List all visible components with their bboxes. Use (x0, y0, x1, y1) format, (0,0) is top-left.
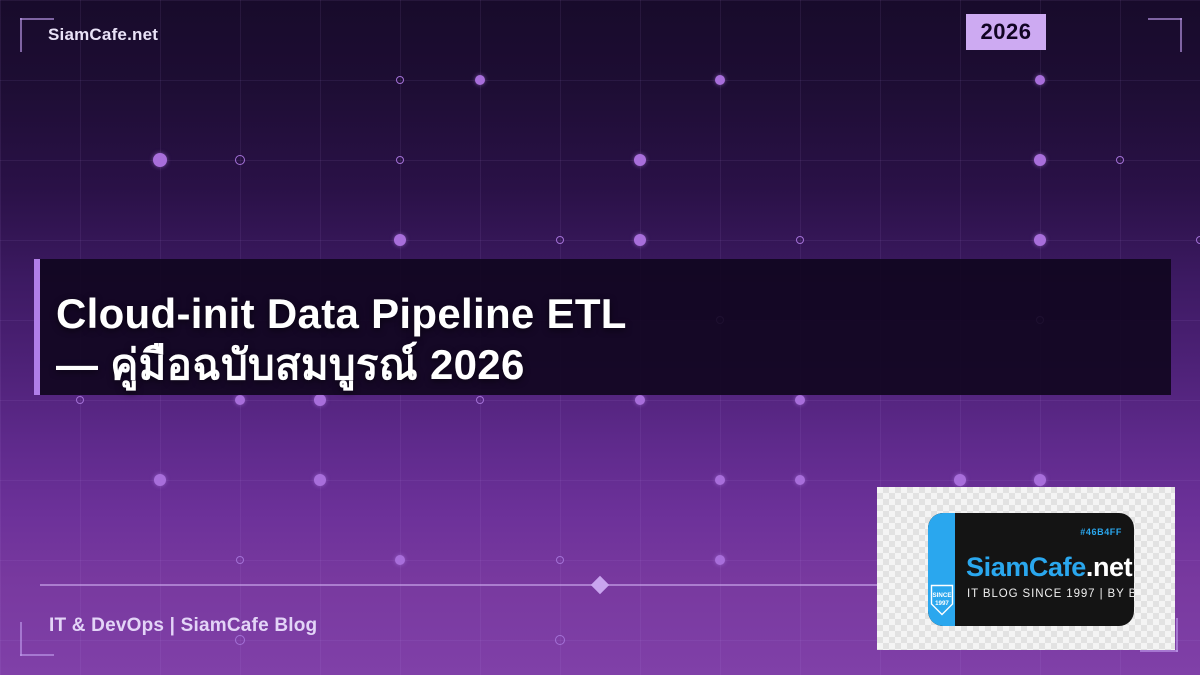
background-dot (795, 475, 805, 485)
background-dot (634, 154, 646, 166)
footer-divider-rule (40, 584, 900, 586)
background-dot (635, 395, 645, 405)
background-dot (394, 234, 406, 246)
logo-card: SINCE 1997 #46B4FF SiamCafe.net IT BLOG … (877, 487, 1175, 650)
footer-caption: IT & DevOps | SiamCafe Blog (49, 615, 317, 637)
shield-since-label: SINCE (933, 592, 952, 599)
background-dot (396, 76, 404, 84)
logo-inner-card: SINCE 1997 #46B4FF SiamCafe.net IT BLOG … (928, 513, 1134, 626)
background-dot (476, 396, 484, 404)
background-dot (1034, 154, 1046, 166)
background-dot (1034, 474, 1046, 486)
logo-wordmark-suffix: .net (1086, 552, 1132, 582)
background-dot (395, 555, 405, 565)
background-dot (396, 156, 404, 164)
brand-name-header: SiamCafe.net (48, 25, 158, 45)
slide-canvas: SiamCafe.net 2026 Cloud-init Data Pipeli… (0, 0, 1200, 675)
background-dot (715, 475, 725, 485)
background-dot (795, 395, 805, 405)
logo-wordmark-primary: SiamCafe (966, 552, 1086, 582)
background-dot (76, 396, 84, 404)
background-dot (236, 556, 244, 564)
brand-hex-code: #46B4FF (1080, 527, 1122, 537)
background-dot (314, 394, 326, 406)
logo-wordmark: SiamCafe.net (966, 552, 1132, 583)
background-dot (235, 395, 245, 405)
page-title: Cloud-init Data Pipeline ETL — คู่มือฉบั… (56, 288, 1156, 390)
background-dot (715, 555, 725, 565)
background-dot (235, 155, 245, 165)
background-dot (1116, 156, 1124, 164)
background-dot (153, 153, 167, 167)
shield-year-label: 1997 (935, 600, 949, 607)
background-dot (1035, 75, 1045, 85)
corner-bracket-top-right (1148, 18, 1182, 52)
background-dot (715, 75, 725, 85)
title-accent-bar (34, 259, 40, 395)
since-shield-icon: SINCE 1997 (930, 584, 954, 616)
background-dot (634, 234, 646, 246)
background-dot (556, 556, 564, 564)
background-dot (1034, 234, 1046, 246)
background-dot (954, 474, 966, 486)
background-dot (556, 236, 564, 244)
footer-diamond-marker (591, 576, 609, 594)
background-dot (475, 75, 485, 85)
background-dot (555, 635, 565, 645)
logo-tagline: IT BLOG SINCE 1997 | BY BOM (967, 588, 1134, 600)
background-dot (314, 474, 326, 486)
background-dot (154, 474, 166, 486)
year-badge: 2026 (966, 14, 1046, 50)
background-dot (1196, 236, 1200, 244)
background-dot (796, 236, 804, 244)
